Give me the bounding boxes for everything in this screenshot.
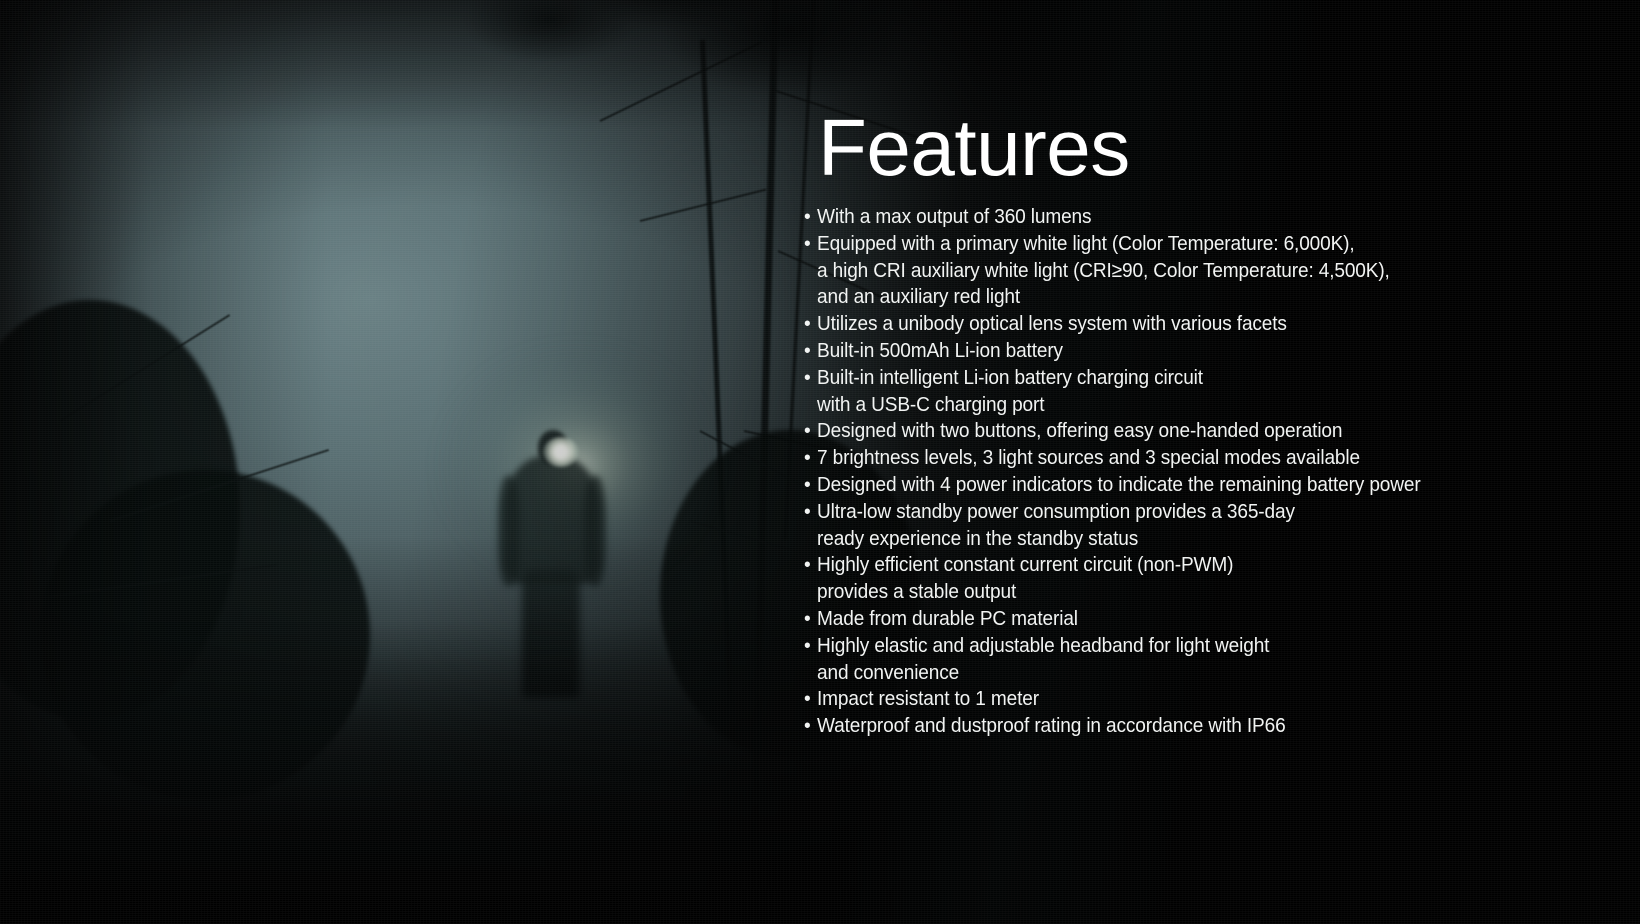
- feature-text: Made from durable PC material: [817, 607, 1078, 630]
- bullet-icon: •: [804, 418, 817, 445]
- bullet-icon: •: [804, 499, 817, 526]
- feature-list-item: •Designed with 4 power indicators to ind…: [804, 472, 1576, 499]
- feature-text: Equipped with a primary white light (Col…: [817, 232, 1355, 255]
- bullet-icon: •: [804, 204, 817, 231]
- feature-list-item-continuation: •with a USB-C charging port: [804, 392, 1576, 419]
- feature-list-item: •Built-in intelligent Li-ion battery cha…: [804, 365, 1576, 392]
- feature-list-item: •Highly efficient constant current circu…: [804, 552, 1576, 579]
- feature-text: Utilizes a unibody optical lens system w…: [817, 312, 1287, 335]
- feature-list-item: •Ultra-low standby power consumption pro…: [804, 499, 1576, 526]
- feature-text: Built-in 500mAh Li-ion battery: [817, 339, 1063, 362]
- bullet-icon: •: [804, 231, 817, 258]
- feature-text: Highly efficient constant current circui…: [817, 553, 1233, 576]
- feature-list: •With a max output of 360 lumens•Equippe…: [804, 204, 1634, 740]
- bullet-icon: •: [804, 311, 817, 338]
- feature-text-panel: Features •With a max output of 360 lumen…: [818, 0, 1640, 924]
- feature-text: ready experience in the standby status: [817, 527, 1138, 550]
- feature-list-item: •Built-in 500mAh Li-ion battery: [804, 338, 1576, 365]
- feature-text: Ultra-low standby power consumption prov…: [817, 500, 1295, 523]
- feature-text: provides a stable output: [817, 580, 1016, 603]
- feature-text: With a max output of 360 lumens: [817, 205, 1091, 228]
- feature-list-item: •7 brightness levels, 3 light sources an…: [804, 445, 1576, 472]
- feature-text: and an auxiliary red light: [817, 285, 1020, 308]
- bullet-icon: •: [804, 365, 817, 392]
- feature-list-item: •Waterproof and dustproof rating in acco…: [804, 713, 1576, 740]
- feature-text: Highly elastic and adjustable headband f…: [817, 634, 1269, 657]
- bullet-icon: •: [804, 472, 817, 499]
- feature-text: Designed with two buttons, offering easy…: [817, 419, 1342, 442]
- feature-text: and convenience: [817, 661, 959, 684]
- feature-text: Built-in intelligent Li-ion battery char…: [817, 366, 1203, 389]
- feature-list-item-continuation: •and an auxiliary red light: [804, 284, 1576, 311]
- feature-list-item: •Equipped with a primary white light (Co…: [804, 231, 1576, 258]
- feature-text: 7 brightness levels, 3 light sources and…: [817, 446, 1360, 469]
- feature-list-item-continuation: •and convenience: [804, 660, 1576, 687]
- bullet-icon: •: [804, 552, 817, 579]
- feature-text: Impact resistant to 1 meter: [817, 687, 1039, 710]
- feature-list-item: •Made from durable PC material: [804, 606, 1576, 633]
- feature-list-item-continuation: •provides a stable output: [804, 579, 1576, 606]
- feature-list-item: •Designed with two buttons, offering eas…: [804, 418, 1576, 445]
- feature-list-item: •Impact resistant to 1 meter: [804, 686, 1576, 713]
- bullet-icon: •: [804, 445, 817, 472]
- feature-text: with a USB-C charging port: [817, 393, 1044, 416]
- page-title: Features: [818, 108, 1130, 188]
- feature-list-item-continuation: •ready experience in the standby status: [804, 526, 1576, 553]
- feature-list-item: •Highly elastic and adjustable headband …: [804, 633, 1576, 660]
- feature-text: Waterproof and dustproof rating in accor…: [817, 714, 1286, 737]
- product-feature-slide: Features •With a max output of 360 lumen…: [0, 0, 1640, 924]
- feature-list-item: •With a max output of 360 lumens: [804, 204, 1576, 231]
- bullet-icon: •: [804, 633, 817, 660]
- bullet-icon: •: [804, 338, 817, 365]
- feature-list-item: •Utilizes a unibody optical lens system …: [804, 311, 1576, 338]
- feature-list-item-continuation: •a high CRI auxiliary white light (CRI≥9…: [804, 258, 1576, 285]
- bullet-icon: •: [804, 686, 817, 713]
- bullet-icon: •: [804, 713, 817, 740]
- bullet-icon: •: [804, 606, 817, 633]
- feature-text: Designed with 4 power indicators to indi…: [817, 473, 1421, 496]
- feature-text: a high CRI auxiliary white light (CRI≥90…: [817, 259, 1390, 282]
